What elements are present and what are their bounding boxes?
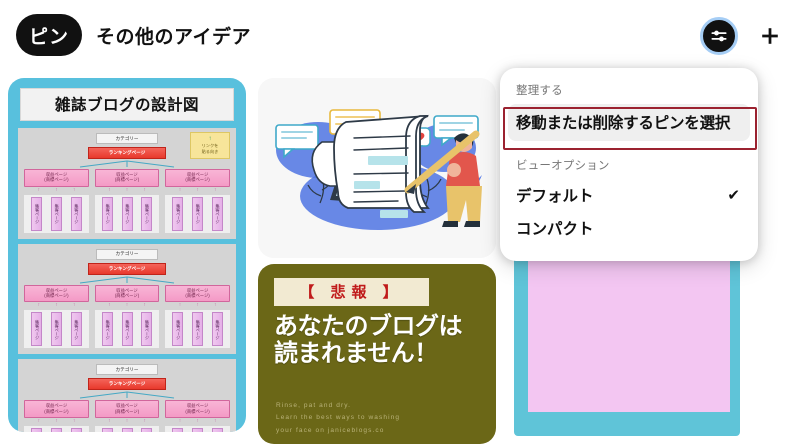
pin-badge[interactable]: ピン (16, 14, 82, 56)
lead-row: 集客ページ 集客ページ 集客ページ (24, 310, 89, 348)
lead-node: 集客ページ (172, 312, 183, 346)
menu-item-select-pins-wrap: 移動または削除するピンを選択 (500, 104, 758, 141)
lead-node: 集客ページ (141, 197, 152, 231)
lead-arrows: ↑↑↑ (95, 302, 160, 309)
revenue-row: 収益ページ (商標ページ) 収益ページ (商標ページ) 収益ページ (22, 400, 232, 418)
plus-icon-button[interactable] (758, 24, 782, 48)
pinterest-board-screen: ピン その他のアイデア 雑誌ブログの設計図 (0, 0, 800, 446)
branch-arrows (22, 278, 232, 284)
lead-node: 集客ページ (122, 312, 133, 346)
lead-node: 集客ページ (141, 312, 152, 346)
blueprint-block: カテゴリー ランキングページ 収益ページ (商標ページ) (18, 244, 236, 355)
blog-writing-illustration (258, 78, 496, 258)
revenue-node: 収益ページ (商標ページ) (24, 169, 89, 187)
sliders-icon-button[interactable] (700, 17, 738, 55)
lead-groups: ↑↑↑ 集客ページ 集客ページ 集客ページ ↑↑↑ 集客ページ 集客ページ 集客… (22, 302, 232, 348)
revenue-row: 収益ページ (商標ページ) 収益ページ (商標ページ) 収益ページ (22, 169, 232, 187)
bad-news-banner: 【 悲報 】 (274, 278, 429, 306)
blog-blueprint-pin[interactable]: 雑誌ブログの設計図 ↑ リンクを 貼る向き カテゴリー ランキングページ (8, 78, 246, 432)
lead-node: 集客ページ (102, 197, 113, 231)
menu-divider-space (500, 141, 758, 157)
lead-arrows: ↑↑↑ (165, 187, 230, 194)
lead-node: 集客ページ (192, 197, 203, 231)
revenue-node: 収益ページ (商標ページ) (165, 400, 230, 418)
menu-item-default[interactable]: デフォルト ✔ (500, 179, 758, 212)
bad-news-headline-pin[interactable]: 【 悲報 】 あなたのブログは 読まれません！ Rinse, pat and d… (258, 264, 496, 444)
lead-node: 集客ページ (172, 197, 183, 231)
header-bar: ピン その他のアイデア (0, 0, 800, 74)
lead-node: 集客ページ (192, 428, 203, 432)
branch-arrow-icon (52, 391, 202, 400)
revenue-node: 収益ページ (商標ページ) (165, 285, 230, 303)
link-note-line1: リンクを (202, 143, 219, 148)
lead-node: 集客ページ (102, 428, 113, 432)
lead-row: 集客ページ 集客ページ 集客ページ (165, 195, 230, 233)
pin-column-1: 雑誌ブログの設計図 ↑ リンクを 貼る向き カテゴリー ランキングページ (8, 78, 246, 432)
lead-node: 集客ページ (102, 312, 113, 346)
bad-news-headline: あなたのブログは 読まれません！ (274, 314, 480, 368)
branch-arrows (22, 393, 232, 399)
lead-node: 集客ページ (172, 428, 183, 432)
lead-node: 集客ページ (31, 197, 42, 231)
link-note-line2: 貼る向き (202, 149, 219, 154)
menu-section-organize-label: 整理する (500, 82, 758, 104)
lead-node: 集客ページ (212, 428, 223, 432)
lead-groups: ↑↑↑ 集客ページ 集客ページ 集客ページ ↑↑↑ 集客ページ 集客ページ 集客… (22, 187, 232, 233)
ranking-node: ランキングページ (88, 263, 166, 275)
category-node: カテゴリー (96, 364, 158, 375)
lead-row: 集客ページ 集客ページ 集客ページ (24, 195, 89, 233)
lead-node: 集客ページ (122, 197, 133, 231)
lead-row: 集客ページ 集客ページ 集客ページ (95, 426, 160, 432)
check-icon: ✔ (727, 186, 740, 204)
lead-node: 集客ページ (212, 197, 223, 231)
lead-arrows: ↑↑↑ (95, 418, 160, 425)
lead-node: 集客ページ (51, 197, 62, 231)
lead-node: 集客ページ (71, 428, 82, 432)
branch-arrows (22, 162, 232, 168)
menu-item-compact[interactable]: コンパクト (500, 212, 758, 245)
lead-arrows: ↑↑↑ (165, 302, 230, 309)
blog-writing-illustration-pin[interactable] (258, 78, 496, 258)
menu-section-view-label: ビューオプション (500, 157, 758, 179)
lead-node: 集客ページ (71, 312, 82, 346)
lead-node: 集客ページ (31, 312, 42, 346)
pin-badge-label: ピン (29, 22, 69, 49)
ranking-node: ランキングページ (88, 147, 166, 159)
lead-arrows: ↑↑↑ (24, 418, 89, 425)
plus-icon (759, 25, 781, 47)
lead-row: 集客ページ 集客ページ 集客ページ (95, 310, 160, 348)
link-direction-note: ↑ リンクを 貼る向き (190, 132, 230, 159)
revenue-row: 収益ページ (商標ページ) 収益ページ (商標ページ) 収益ページ (22, 285, 232, 303)
lead-row: 集客ページ 集客ページ 集客ページ (95, 195, 160, 233)
revenue-node: 収益ページ (商標ページ) (165, 169, 230, 187)
bad-news-footer: Rinse, pat and dry. Learn the best ways … (276, 400, 400, 437)
revenue-node: 収益ページ (商標ページ) (24, 285, 89, 303)
lead-arrows: ↑↑↑ (95, 187, 160, 194)
menu-item-default-label: デフォルト (516, 184, 594, 206)
revenue-node: 収益ページ (商標ページ) (24, 400, 89, 418)
branch-arrow-icon (52, 160, 202, 169)
lead-node: 集客ページ (71, 197, 82, 231)
category-node: カテゴリー (96, 249, 158, 260)
menu-item-select-pins[interactable]: 移動または削除するピンを選択 (508, 104, 750, 141)
lead-node: 集客ページ (51, 428, 62, 432)
revenue-node: 収益ページ (商標ページ) (95, 285, 160, 303)
lead-row: 集客ページ 集客ページ 集客ページ (165, 310, 230, 348)
lead-arrows: ↑↑↑ (24, 187, 89, 194)
branch-arrow-icon (52, 276, 202, 285)
up-arrow-icon: ↑ (192, 136, 228, 142)
ranking-node: ランキングページ (88, 378, 166, 390)
lead-node: 集客ページ (212, 312, 223, 346)
lead-arrows: ↑↑↑ (165, 418, 230, 425)
lead-groups: ↑↑↑ 集客ページ 集客ページ 集客ページ ↑↑↑ 集客ページ 集客ページ 集客… (22, 418, 232, 432)
lead-row: 集客ページ 集客ページ 集客ページ (24, 426, 89, 432)
blueprint-block: カテゴリー ランキングページ 収益ページ (商標ページ) (18, 359, 236, 432)
lead-node: 集客ページ (51, 312, 62, 346)
blueprint-block: ↑ リンクを 貼る向き カテゴリー ランキングページ (18, 128, 236, 239)
lead-arrows: ↑↑↑ (24, 302, 89, 309)
lead-node: 集客ページ (192, 312, 203, 346)
revenue-node: 収益ページ (商標ページ) (95, 400, 160, 418)
page-title: その他のアイデア (96, 22, 251, 49)
lead-node: 集客ページ (31, 428, 42, 432)
lead-node: 集客ページ (122, 428, 133, 432)
pin-column-2: 【 悲報 】 あなたのブログは 読まれません！ Rinse, pat and d… (258, 78, 496, 444)
menu-item-compact-label: コンパクト (516, 217, 594, 239)
blueprint-title: 雑誌ブログの設計図 (20, 88, 234, 121)
board-options-menu: 整理する 移動または削除するピンを選択 ビューオプション デフォルト ✔ コンパ… (500, 68, 758, 261)
lead-row: 集客ページ 集客ページ 集客ページ (165, 426, 230, 432)
revenue-node: 収益ページ (商標ページ) (95, 169, 160, 187)
category-node: カテゴリー (96, 133, 158, 144)
lead-node: 集客ページ (141, 428, 152, 432)
sliders-icon (709, 26, 729, 46)
